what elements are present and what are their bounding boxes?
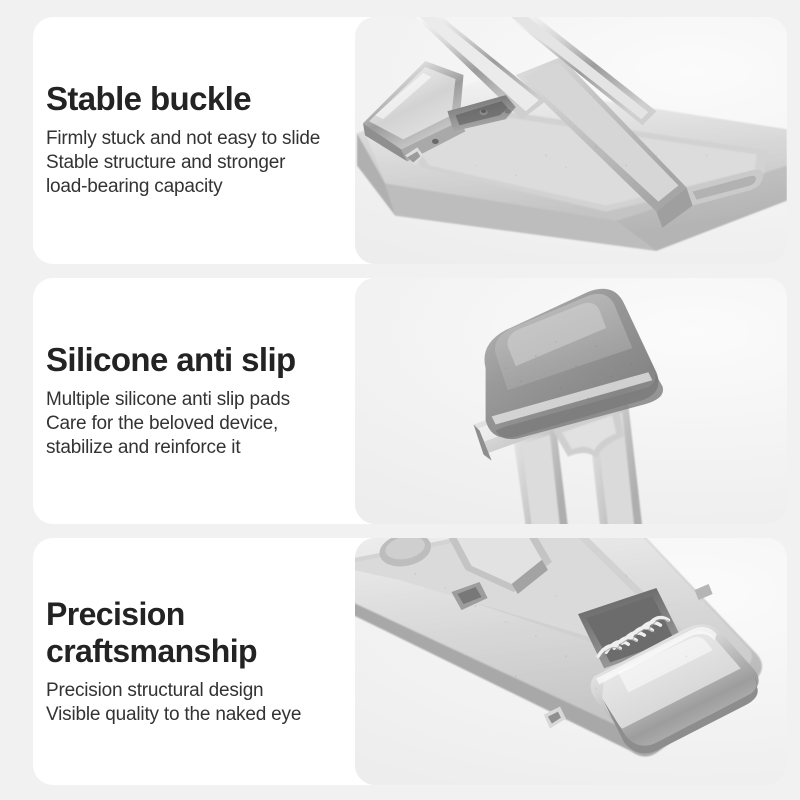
- feature-description: Precision structural design Visible qual…: [46, 679, 339, 727]
- feature-description: Multiple silicone anti slip pads Care fo…: [46, 388, 339, 460]
- feature-photo-stable-buckle: [355, 17, 787, 264]
- feature-list-page: Stable buckle Firmly stuck and not easy …: [0, 0, 800, 800]
- product-photo-silicone-cap: [355, 278, 787, 525]
- product-photo-spring-hinge: [355, 538, 787, 785]
- feature-title: Stable buckle: [46, 81, 339, 118]
- feature-text-block: Stable buckle Firmly stuck and not easy …: [33, 17, 355, 264]
- feature-description: Firmly stuck and not easy to slide Stabl…: [46, 127, 339, 199]
- feature-card-precision-craftsmanship: Precision craftsmanship Precision struct…: [33, 538, 787, 785]
- product-photo-buckle: [355, 17, 787, 264]
- feature-text-block: Precision craftsmanship Precision struct…: [33, 538, 355, 785]
- feature-title: Precision craftsmanship: [46, 596, 339, 670]
- feature-text-block: Silicone anti slip Multiple silicone ant…: [33, 278, 355, 525]
- feature-card-silicone-anti-slip: Silicone anti slip Multiple silicone ant…: [33, 278, 787, 525]
- feature-photo-precision: [355, 538, 787, 785]
- feature-card-stable-buckle: Stable buckle Firmly stuck and not easy …: [33, 17, 787, 264]
- feature-title: Silicone anti slip: [46, 342, 339, 379]
- feature-photo-silicone: [355, 278, 787, 525]
